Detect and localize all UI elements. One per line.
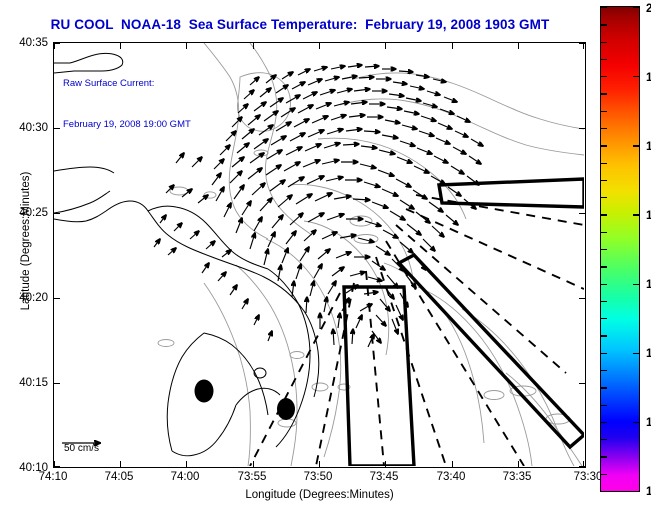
colorbar-tick bbox=[601, 197, 607, 198]
figure-title: RU COOL NOAA-18 Sea Surface Temperature:… bbox=[0, 17, 600, 32]
y-tick bbox=[579, 298, 585, 299]
x-tick bbox=[319, 461, 320, 467]
colorbar-tick bbox=[601, 284, 607, 285]
colorbar-tick bbox=[601, 128, 607, 129]
colorbar-tick bbox=[601, 491, 607, 492]
x-tick-label: 73:45 bbox=[370, 471, 399, 483]
colorbar bbox=[600, 6, 640, 492]
colorbar-tick bbox=[601, 474, 607, 475]
x-axis-title: Longitude (Degrees:Minutes) bbox=[53, 489, 586, 501]
x-tick-label: 73:50 bbox=[304, 471, 333, 483]
map-plot-axes: Raw Surface Current: February 19, 2008 1… bbox=[53, 42, 586, 468]
x-tick bbox=[518, 43, 519, 49]
colorbar-tick bbox=[601, 214, 607, 215]
surface-current-vectors bbox=[154, 65, 483, 347]
x-tick bbox=[186, 461, 187, 467]
colorbar-tick bbox=[633, 491, 639, 492]
colorbar-tick bbox=[601, 318, 607, 319]
figure-root: RU COOL NOAA-18 Sea Surface Temperature:… bbox=[0, 0, 651, 518]
colorbar-tick-label: 13 bbox=[646, 486, 651, 498]
y-tick bbox=[579, 43, 585, 44]
colorbar-tick bbox=[601, 163, 607, 164]
colorbar-tick-label: 14 bbox=[646, 417, 651, 429]
colorbar-tick bbox=[601, 387, 607, 388]
colorbar-tick bbox=[601, 335, 607, 336]
y-tick bbox=[579, 213, 585, 214]
y-tick-label-text: 40:15 bbox=[19, 377, 48, 389]
colorbar-tick-label: 18 bbox=[646, 141, 651, 153]
y-tick bbox=[579, 383, 585, 384]
colorbar-tick bbox=[601, 24, 607, 25]
transect-box-middle bbox=[399, 255, 584, 447]
annotation-text: Raw Surface Current: February 19, 2008 1… bbox=[63, 50, 191, 158]
x-tick-label: 74:05 bbox=[105, 471, 134, 483]
x-tick bbox=[385, 461, 386, 467]
y-tick bbox=[579, 466, 585, 467]
y-tick-label-text: 40:35 bbox=[19, 37, 48, 49]
colorbar-tick-label: 17 bbox=[646, 210, 651, 222]
colorbar-tick bbox=[601, 145, 607, 146]
x-tick bbox=[452, 43, 453, 49]
colorbar-tick bbox=[601, 301, 607, 302]
x-tick-label: 73:55 bbox=[238, 471, 267, 483]
colorbar-tick-label: 20 bbox=[646, 3, 651, 15]
x-tick-label: 73:40 bbox=[437, 471, 466, 483]
colorbar-tick bbox=[601, 59, 607, 60]
transect-box-lower bbox=[344, 287, 414, 466]
colorbar-tick bbox=[601, 76, 607, 77]
colorbar-tick bbox=[601, 439, 607, 440]
colorbar-tick bbox=[601, 353, 607, 354]
vector-scale-label: 50 cm/s bbox=[64, 443, 99, 454]
x-tick bbox=[385, 43, 386, 49]
annotation-line-2: February 19, 2008 19:00 GMT bbox=[63, 118, 191, 132]
y-axis-title: Latitude (Degrees:Minutes) bbox=[20, 121, 32, 361]
annotation-line-1: Raw Surface Current: bbox=[63, 77, 191, 91]
y-tick-label-text: 40:10 bbox=[19, 462, 48, 474]
x-tick bbox=[253, 461, 254, 467]
x-tick bbox=[120, 43, 121, 49]
station-markers bbox=[195, 380, 296, 421]
colorbar-tick bbox=[601, 370, 607, 371]
colorbar-tick bbox=[601, 232, 607, 233]
x-tick bbox=[186, 43, 187, 49]
vector-scale-legend: 50 cm/s bbox=[64, 443, 99, 455]
y-tick-label: 40:15 bbox=[48, 377, 77, 389]
colorbar-tick bbox=[601, 422, 607, 423]
colorbar-tick bbox=[601, 93, 607, 94]
y-tick-label: 40:35 bbox=[48, 37, 77, 49]
colorbar-tick bbox=[633, 284, 639, 285]
colorbar-tick bbox=[633, 7, 639, 8]
colorbar-tick bbox=[633, 214, 639, 215]
map-canvas: Raw Surface Current: February 19, 2008 1… bbox=[54, 43, 585, 467]
y-tick-label: 40:25 bbox=[48, 207, 77, 219]
x-tick bbox=[452, 461, 453, 467]
colorbar-tick bbox=[633, 145, 639, 146]
colorbar-tick bbox=[601, 7, 607, 8]
colorbar-tick bbox=[633, 76, 639, 77]
radar-radial-lines bbox=[250, 195, 584, 466]
y-tick-label: 40:20 bbox=[48, 292, 77, 304]
transect-box-upper bbox=[439, 179, 584, 207]
x-tick bbox=[253, 43, 254, 49]
station-marker-west bbox=[195, 380, 214, 403]
colorbar-tick bbox=[601, 456, 607, 457]
colorbar-tick bbox=[633, 422, 639, 423]
colorbar-tick-label: 19 bbox=[646, 72, 651, 84]
colorbar-tick-label: 15 bbox=[646, 348, 651, 360]
x-tick bbox=[518, 461, 519, 467]
colorbar-tick bbox=[601, 405, 607, 406]
colorbar-tick bbox=[601, 111, 607, 112]
colorbar-tick bbox=[601, 266, 607, 267]
x-tick bbox=[120, 461, 121, 467]
colorbar-tick bbox=[633, 353, 639, 354]
colorbar-tick bbox=[601, 180, 607, 181]
x-tick-label: 74:00 bbox=[171, 471, 200, 483]
x-tick-label: 73:35 bbox=[503, 471, 532, 483]
colorbar-tick bbox=[601, 249, 607, 250]
x-tick bbox=[319, 43, 320, 49]
colorbar-tick-label: 16 bbox=[646, 279, 651, 291]
y-tick-label: 40:10 bbox=[48, 462, 77, 474]
bathymetry-contours bbox=[158, 43, 584, 466]
x-tick-label: 73:30 bbox=[574, 471, 603, 483]
y-tick bbox=[579, 128, 585, 129]
colorbar-tick bbox=[601, 42, 607, 43]
station-marker-east bbox=[277, 398, 295, 420]
